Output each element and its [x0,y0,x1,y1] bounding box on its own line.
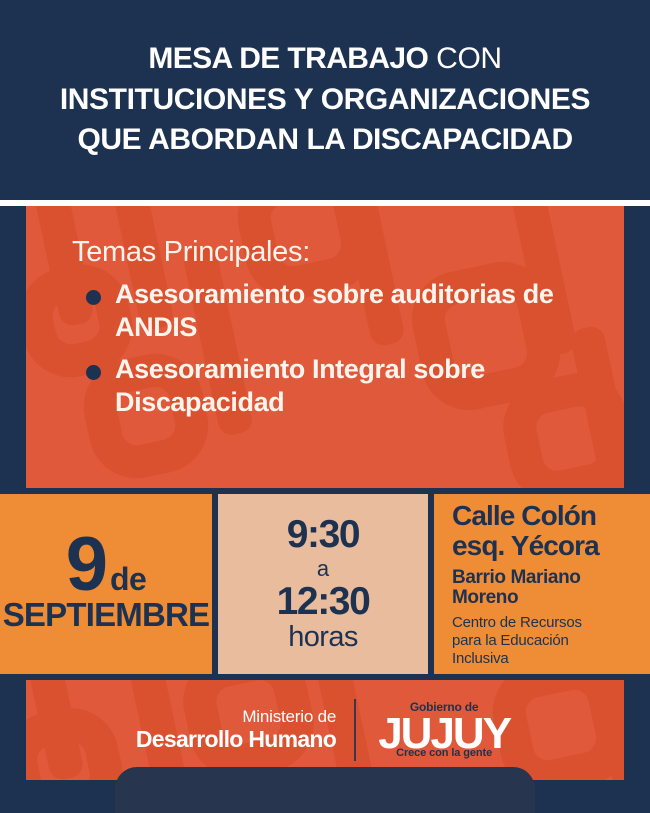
location-venue-line-1: Centro de Recursos [452,614,640,632]
bullet-dot-icon [86,290,101,305]
location-panel: Calle Colón esq. Yécora Barrio Mariano M… [434,494,650,674]
topic-list-item: Asesoramiento Integral sobre Discapacida… [72,353,598,419]
topics-section: Temas Principales: Asesoramiento sobre a… [26,206,624,488]
header-line-3-rest: QUE ABORDAN [77,123,306,156]
bullet-dot-icon [86,365,101,380]
date-month: SEPTIEMBRE [3,598,210,633]
time-end: 12:30 [277,581,370,622]
event-details-strip: 9 de SEPTIEMBRE 9:30 a 12:30 horas Calle… [0,494,650,674]
ministry-prefix: Ministerio de [136,707,336,727]
date-panel: 9 de SEPTIEMBRE [0,494,212,674]
location-venue-line-3: Inclusiva [452,650,640,668]
poster-header: MESA DE TRABAJO CON INSTITUCIONES Y ORGA… [0,0,650,200]
header-line-3-emphasis: LA DISCAPACIDAD [307,123,573,156]
ministry-block: Ministerio de Desarrollo Humano [136,707,336,754]
footer-divider [354,699,356,761]
header-line-1: MESA DE TRABAJO CON [148,39,501,80]
topic-list-item: Asesoramiento sobre auditorias de ANDIS [72,278,598,344]
header-line-1-emphasis: MESA DE TRABAJO [148,42,428,75]
topic-item-label: Asesoramiento sobre auditorias de ANDIS [115,278,598,344]
topic-item-label: Asesoramiento Integral sobre Discapacida… [115,353,598,419]
time-unit: horas [288,622,358,654]
location-venue-line-2: para la Educación [452,632,640,650]
topics-content: Temas Principales: Asesoramiento sobre a… [26,206,624,488]
time-connector: a [317,557,329,580]
header-line-1-rest: CON [428,42,501,75]
header-line-2: INSTITUCIONES Y ORGANIZACIONES [60,80,590,121]
location-street-line-1: Calle Colón [452,501,640,531]
time-start: 9:30 [287,514,359,555]
date-connector: de [110,561,146,598]
time-panel: 9:30 a 12:30 horas [218,494,428,674]
topics-title: Temas Principales: [72,236,598,269]
location-neighborhood-line-1: Barrio Mariano [452,568,640,588]
date-day: 9 [66,530,105,600]
header-line-3: QUE ABORDAN LA DISCAPACIDAD [77,120,572,161]
location-street-line-2: esq. Yécora [452,531,640,561]
government-slogan: Crece con la gente [374,747,514,759]
government-logo-block: Gobierno de JUJUY Crece con la gente [374,701,514,758]
bottom-rounded-tab [115,767,535,813]
poster-root: MESA DE TRABAJO CON INSTITUCIONES Y ORGA… [0,0,650,813]
date-row: 9 de [66,530,147,600]
ministry-name: Desarrollo Humano [136,726,336,753]
location-neighborhood-line-2: Moreno [452,588,640,608]
